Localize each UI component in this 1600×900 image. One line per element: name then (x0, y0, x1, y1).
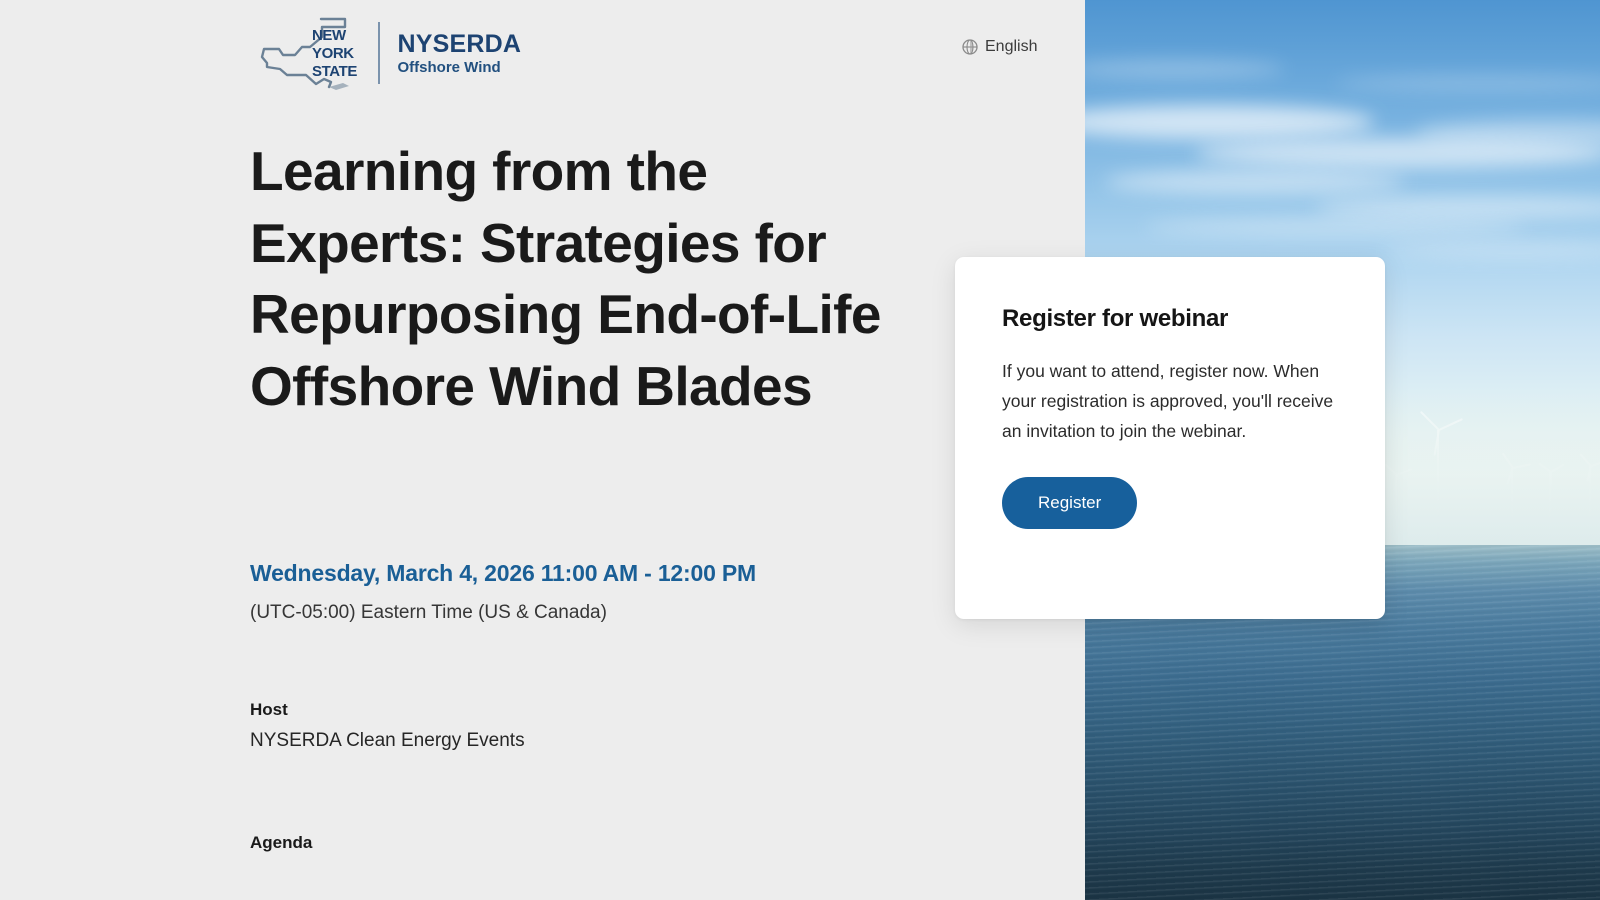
event-datetime: Wednesday, March 4, 2026 11:00 AM - 12:0… (250, 560, 756, 587)
logo-wordmark: NYSERDA Offshore Wind (398, 30, 522, 77)
cloud-wisp (1195, 138, 1600, 168)
logo-org-name: NYSERDA (398, 30, 522, 58)
host-value: NYSERDA Clean Energy Events (250, 730, 525, 752)
new-york-state-outline-icon: NEW YORK STATE (250, 13, 372, 93)
globe-icon (962, 39, 978, 55)
logo-org-sub: Offshore Wind (398, 59, 522, 77)
language-label: English (985, 38, 1037, 56)
nyserda-logo[interactable]: NEW YORK STATE NYSERDA Offshore Wind (250, 12, 521, 94)
logo-divider (378, 22, 380, 84)
cloud-wisp (1085, 105, 1375, 139)
cloud-wisp (1385, 242, 1600, 258)
svg-text:STATE: STATE (312, 63, 357, 80)
language-selector[interactable]: English (962, 38, 1037, 56)
register-card: Register for webinar If you want to atte… (955, 257, 1385, 619)
cloud-wisp (1085, 60, 1285, 78)
cloud-wisp (1315, 196, 1600, 218)
register-card-title: Register for webinar (1002, 305, 1341, 333)
register-button[interactable]: Register (1002, 477, 1137, 529)
page-title: Learning from the Experts: Strategies fo… (250, 136, 890, 422)
svg-text:NEW: NEW (312, 27, 347, 44)
event-timezone: (UTC-05:00) Eastern Time (US & Canada) (250, 602, 607, 624)
event-details-panel: NEW YORK STATE NYSERDA Offshore Wind Eng… (0, 0, 1085, 900)
host-label: Host (250, 700, 288, 720)
register-card-body: If you want to attend, register now. Whe… (1002, 356, 1341, 446)
svg-text:YORK: YORK (312, 45, 354, 62)
cloud-wisp (1105, 170, 1405, 194)
webinar-registration-page: NEW YORK STATE NYSERDA Offshore Wind Eng… (0, 0, 1600, 900)
agenda-label: Agenda (250, 833, 312, 853)
cloud-wisp (1335, 76, 1600, 90)
cloud-wisp (1145, 218, 1525, 236)
